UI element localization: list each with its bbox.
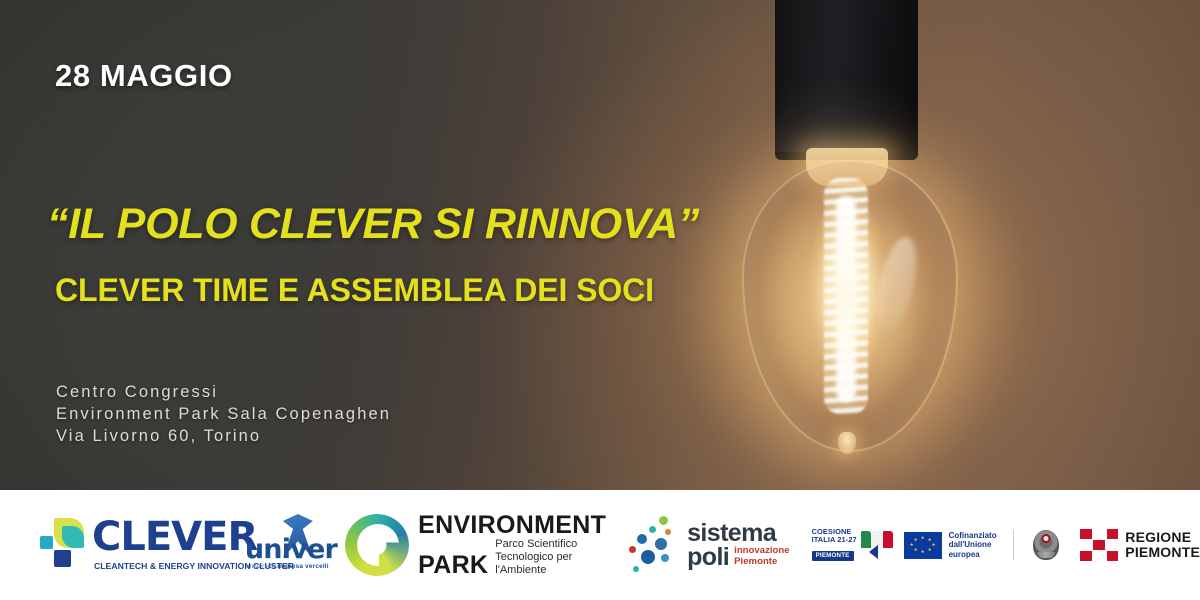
coesione-line2: ITALIA 21-27 [812,536,857,544]
event-date: 28 MAGGIO [55,58,233,94]
coesione-italian-flag-icon [861,531,890,559]
environment-park-swirl-icon [345,514,409,576]
eu-line2: dall'Unione europea [949,540,997,559]
sistema-poli-text: sistema poli innovazione Piemonte [687,522,789,569]
sistema-poli-sub2: Piemonte [734,556,789,567]
republic-emblem-icon [1033,530,1059,560]
sistema-poli-sub1: innovazione [734,545,789,556]
logo-repubblica-italiana [1027,523,1064,567]
univer-tagline-b: impresa vercelli [277,563,329,570]
univer-tagline: università impresa vercelli [246,563,329,570]
venue-line-2: Environment Park Sala Copenaghen [56,403,391,425]
event-title: “IL POLO CLEVER SI RINNOVA” [47,200,699,249]
environment-park-text: ENVIRONMENT PARK Parco Scientifico Tecno… [418,512,606,578]
eu-text: Cofinanziato dall'Unione europea [949,531,997,560]
sistema-poli-line2: poli [687,546,729,569]
univer-wordmark: univer [245,534,337,565]
event-banner: 28 MAGGIO “IL POLO CLEVER SI RINNOVA” CL… [0,0,1200,600]
logo-clever: CLEVER CLEANTECH & ENERGY INNOVATION CLU… [36,512,219,578]
venue-line-1: Centro Congressi [56,381,391,403]
environment-park-line1: ENVIRONMENT [418,512,606,538]
bulb-tip [838,432,856,454]
venue-address: Centro Congressi Environment Park Sala C… [56,381,391,447]
coesione-arrow-icon [869,545,878,559]
logo-cofinanziato-ue: ★ ★ ★ ★ ★ ★ ★ ★ Cofinanziato dall'Unione… [904,527,997,563]
sistema-poli-line1: sistema [687,522,789,545]
sponsor-logo-bar: CLEVER CLEANTECH & ENERGY INNOVATION CLU… [0,490,1200,600]
clever-square-blue-icon [54,550,71,567]
coesione-text: COESIONE ITALIA 21-27 PIEMONTE [812,528,857,563]
univer-tagline-a: università [246,563,275,570]
eu-flag-icon: ★ ★ ★ ★ ★ ★ ★ ★ [904,532,942,559]
environment-park-line2: PARK [418,552,488,578]
logo-coesione-italia: COESIONE ITALIA 21-27 PIEMONTE [812,525,890,565]
environment-park-subtitle: Parco Scientifico Tecnologico per l'Ambi… [495,538,606,578]
logo-sistema-poli: sistema poli innovazione Piemonte [629,512,789,578]
logo-univer: univer università impresa vercelli [241,514,321,576]
sistema-poli-dots-icon [629,516,683,574]
environment-park-sub2: Tecnologico per l'Ambiente [495,551,606,577]
environment-park-sub1: Parco Scientifico [495,538,606,551]
logo-regione-piemonte: REGIONE PIEMONTE [1080,523,1200,567]
lamp-socket [775,0,918,157]
clever-square-cyan-icon [40,536,53,549]
logo-divider [1013,530,1014,560]
clever-leaf-teal-icon [62,526,84,548]
venue-line-3: Via Livorno 60, Torino [56,425,391,447]
eu-line1: Cofinanziato [949,531,997,541]
coesione-piemonte-badge: PIEMONTE [812,551,854,561]
logo-environment-park: ENVIRONMENT PARK Parco Scientifico Tecno… [345,511,603,579]
regione-line2: PIEMONTE [1125,545,1200,560]
regione-piemonte-cross-icon [1080,529,1118,561]
event-subtitle: CLEVER TIME E ASSEMBLEA DEI SOCI [55,272,654,309]
regione-line1: REGIONE [1125,530,1200,545]
regione-piemonte-text: REGIONE PIEMONTE [1125,530,1200,560]
sistema-poli-subtitle: innovazione Piemonte [734,545,789,569]
clever-wordmark: CLEVER [92,514,257,560]
